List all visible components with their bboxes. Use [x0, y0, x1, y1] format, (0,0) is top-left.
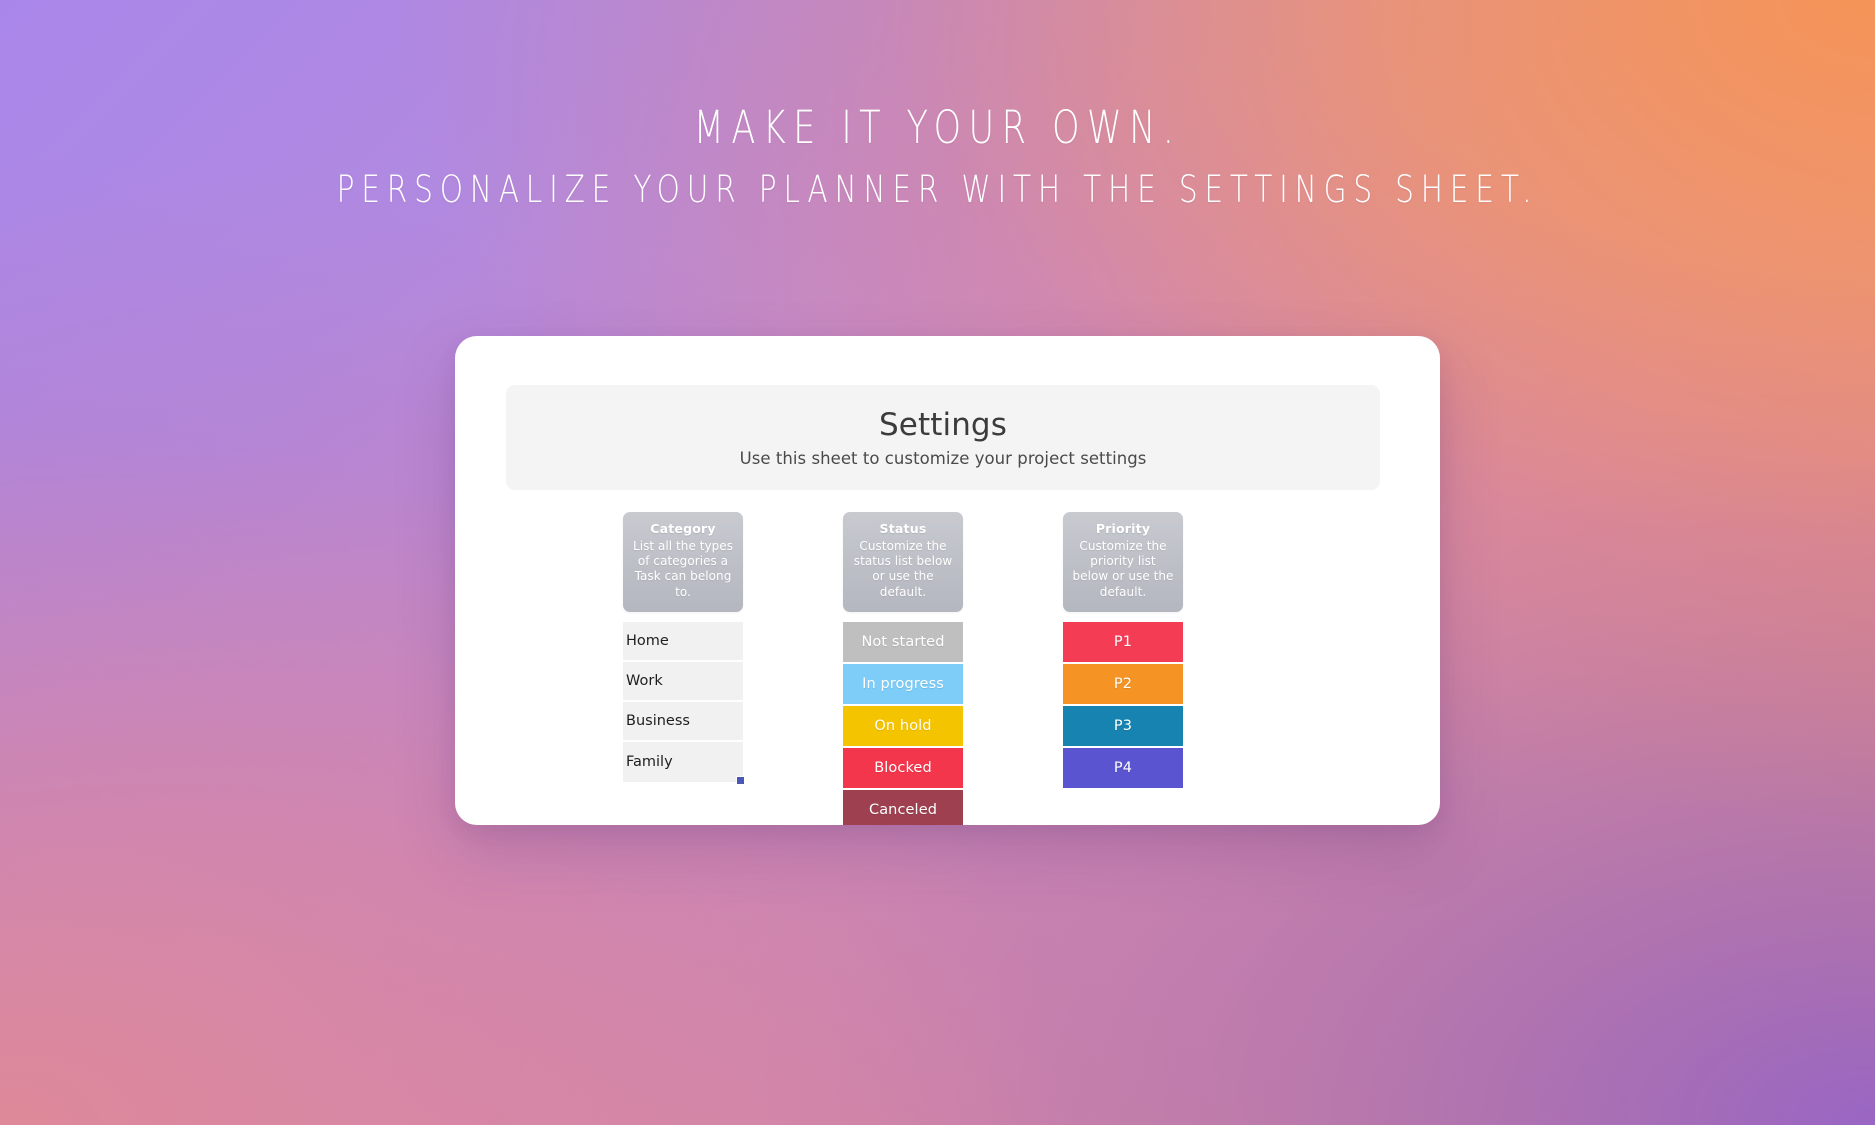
status-item-label: Blocked	[874, 760, 932, 776]
column-title-priority: Priority	[1071, 521, 1175, 537]
column-description-category: List all the types of categories a Task …	[631, 539, 735, 599]
column-title-status: Status	[851, 521, 955, 537]
hero-headline: MAKE IT YOUR OWN.	[206, 104, 1669, 151]
page-title: Settings	[879, 407, 1007, 444]
page-subtitle: Use this sheet to customize your project…	[740, 449, 1147, 468]
category-item-label: Family	[626, 754, 673, 770]
column-list-status: Not startedIn progressOn holdBlockedCanc…	[843, 622, 963, 825]
column-header-status: StatusCustomize the status list below or…	[843, 512, 963, 612]
table-row[interactable]: Work	[623, 662, 743, 702]
list-item[interactable]: In progress	[843, 664, 963, 704]
list-item[interactable]: P1	[1063, 622, 1183, 662]
table-row[interactable]: Family	[623, 742, 743, 782]
column-title-category: Category	[631, 521, 735, 537]
priority-item-label: P2	[1114, 676, 1132, 692]
settings-column-status: StatusCustomize the status list below or…	[843, 512, 963, 825]
list-item[interactable]: P2	[1063, 664, 1183, 704]
column-header-priority: PriorityCustomize the priority list belo…	[1063, 512, 1183, 612]
column-list-priority: P1P2P3P4	[1063, 622, 1183, 788]
table-row[interactable]: Business	[623, 702, 743, 742]
sheet-header-banner: Settings Use this sheet to customize you…	[506, 385, 1380, 490]
status-item-label: In progress	[862, 676, 944, 692]
column-description-priority: Customize the priority list below or use…	[1071, 539, 1175, 599]
column-description-status: Customize the status list below or use t…	[851, 539, 955, 599]
list-item[interactable]: P4	[1063, 748, 1183, 788]
settings-app-card: Settings Use this sheet to customize you…	[455, 336, 1440, 825]
column-header-category: CategoryList all the types of categories…	[623, 512, 743, 612]
category-item-label: Home	[626, 633, 669, 649]
hero-text-block: MAKE IT YOUR OWN. PERSONALIZE YOUR PLANN…	[0, 104, 1875, 210]
list-item[interactable]: Blocked	[843, 748, 963, 788]
list-item[interactable]: On hold	[843, 706, 963, 746]
list-item[interactable]: Not started	[843, 622, 963, 662]
priority-item-label: P3	[1114, 718, 1132, 734]
settings-column-priority: PriorityCustomize the priority list belo…	[1063, 512, 1183, 825]
poster-stage: MAKE IT YOUR OWN. PERSONALIZE YOUR PLANN…	[0, 0, 1875, 1125]
list-item[interactable]: P3	[1063, 706, 1183, 746]
list-item[interactable]: Canceled	[843, 790, 963, 825]
settings-columns: CategoryList all the types of categories…	[623, 512, 1263, 825]
column-list-category: HomeWorkBusinessFamily	[623, 622, 743, 782]
category-item-label: Business	[626, 713, 690, 729]
status-item-label: Not started	[861, 634, 944, 650]
table-row[interactable]: Home	[623, 622, 743, 662]
status-item-label: On hold	[874, 718, 931, 734]
category-item-label: Work	[626, 673, 663, 689]
hero-subheadline: PERSONALIZE YOUR PLANNER WITH THE SETTIN…	[188, 171, 1688, 210]
resize-handle-icon[interactable]	[736, 776, 745, 785]
status-item-label: Canceled	[869, 802, 937, 818]
priority-item-label: P1	[1114, 634, 1132, 650]
settings-column-category: CategoryList all the types of categories…	[623, 512, 743, 825]
priority-item-label: P4	[1114, 760, 1132, 776]
